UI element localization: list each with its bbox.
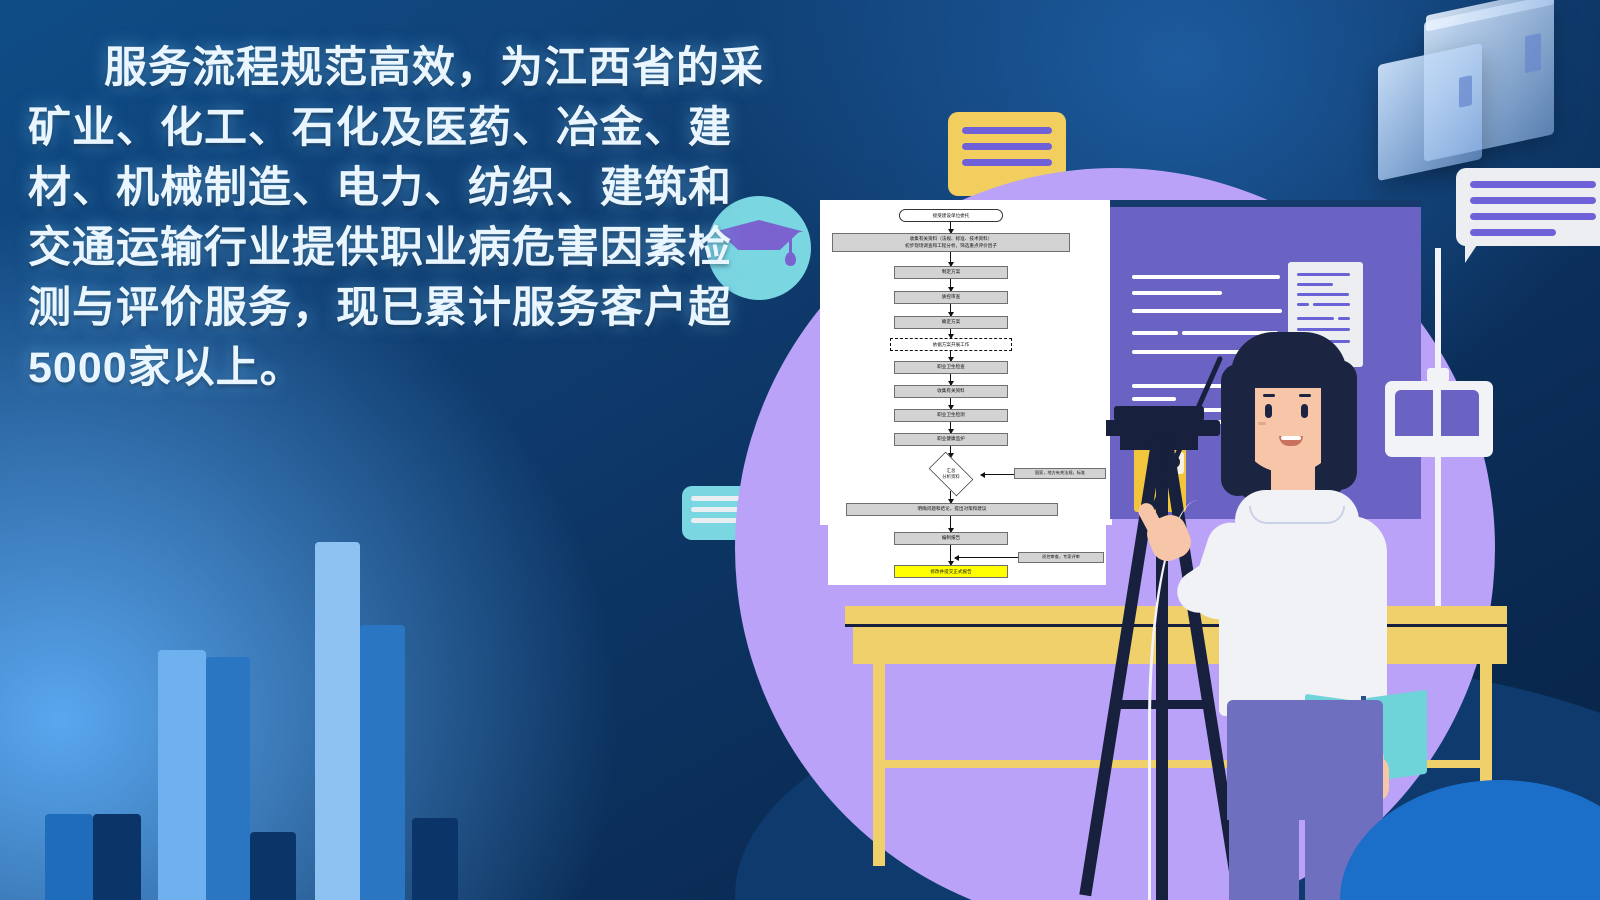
tripod-head [1098,420,1220,436]
service-process-flowchart: 接受建设单位委托 收集有关资料（法规、标准、技术资料） 初步现场调查和工程分析，… [828,203,1106,585]
flow-node-n1: 接受建设单位委托 [899,209,1003,222]
flow-node-n2: 收集有关资料（法规、标准、技术资料） 初步现场调查和工程分析，筛选重点评价因子 [832,233,1070,252]
flow-node-n12: 国家，地方有关法规，标准 [1014,468,1106,479]
flow-node-n11: 汇总 分析资料 [923,457,979,491]
flow-node-n7: 职业卫生检查 [894,361,1008,374]
flow-node-n10: 职业健康监护 [894,433,1008,446]
flow-node-n8: 收集有关资料 [894,385,1008,398]
flow-node-n5: 确定方案 [894,316,1008,329]
flow-node-n4: 质控审查 [894,291,1008,304]
flow-node-n16: 修改并提交正式报告 [894,565,1008,578]
flow-node-n15: 质控审查，专家评审 [1018,552,1104,563]
flow-node-n11-label: 汇总 分析资料 [923,457,979,491]
poster-canvas: 服务流程规范高效，为江西省的采矿业、化工、石化及医药、冶金、建材、机械制造、电力… [0,0,1600,900]
flow-node-n6: 依据方案开展工作 [890,338,1012,351]
flow-node-n13: 明确问题和结论，提出对策和建议 [846,503,1058,516]
page-headline: 服务流程规范高效，为江西省的采矿业、化工、石化及医药、冶金、建材、机械制造、电力… [28,38,768,398]
flow-node-n14: 编制报告 [894,532,1008,545]
flow-node-n9: 职业卫生检测 [894,409,1008,422]
flow-node-n3: 制定方案 [894,266,1008,279]
female-presenter [1205,330,1435,870]
